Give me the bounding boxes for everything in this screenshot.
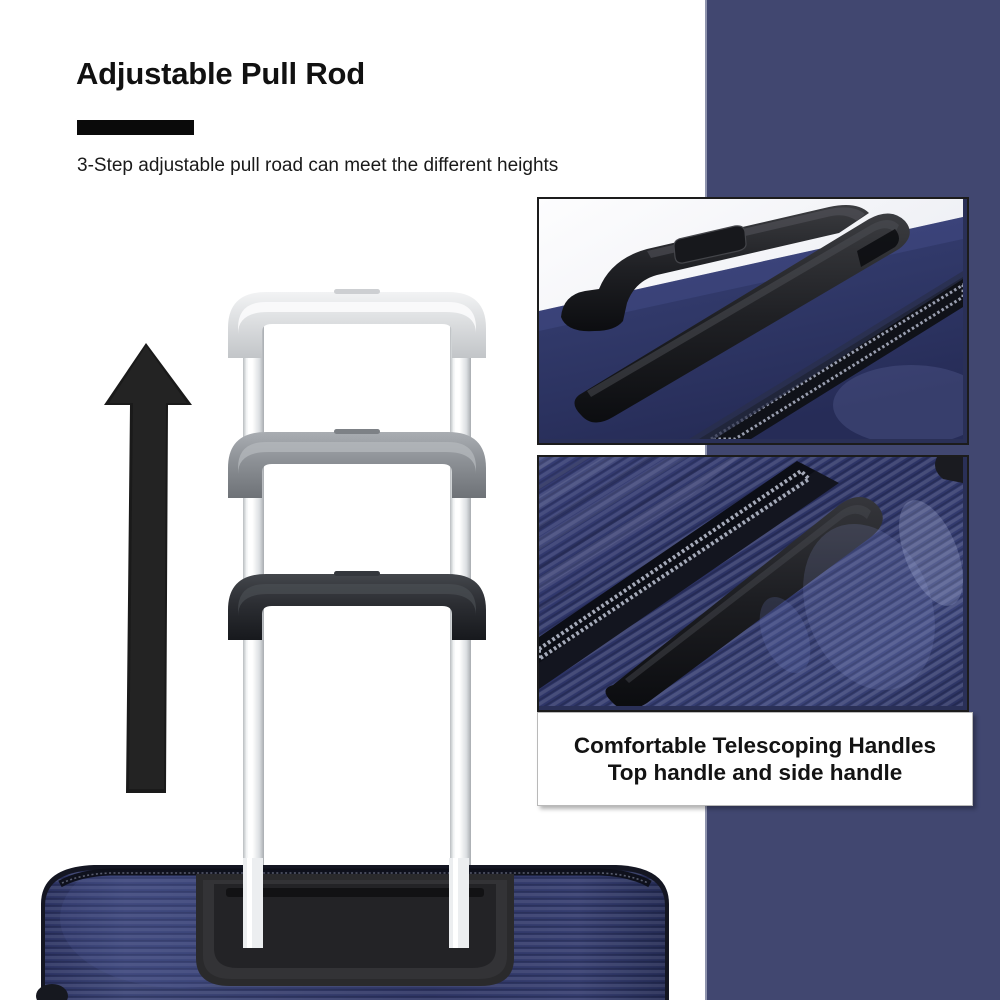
page-subtitle: 3-Step adjustable pull road can meet the…	[77, 155, 558, 177]
navy-hardshell-suitcase	[0, 858, 710, 1000]
infographic-canvas: Adjustable Pull Rod 3-Step adjustable pu…	[0, 0, 1000, 1000]
upward-direction-arrow	[96, 343, 196, 793]
title-underline-rule	[77, 120, 194, 135]
top-handle-photo	[537, 197, 969, 445]
side-handle-photo-image	[539, 457, 967, 710]
caption-line-2: Top handle and side handle	[608, 759, 903, 786]
photo-caption-box: Comfortable Telescoping Handles Top hand…	[537, 712, 973, 806]
caption-line-1: Comfortable Telescoping Handles	[574, 732, 936, 759]
top-handle-photo-image	[539, 199, 967, 443]
side-handle-photo	[537, 455, 969, 712]
page-title: Adjustable Pull Rod	[76, 56, 365, 92]
three-step-telescoping-handle-diagram	[214, 280, 504, 920]
